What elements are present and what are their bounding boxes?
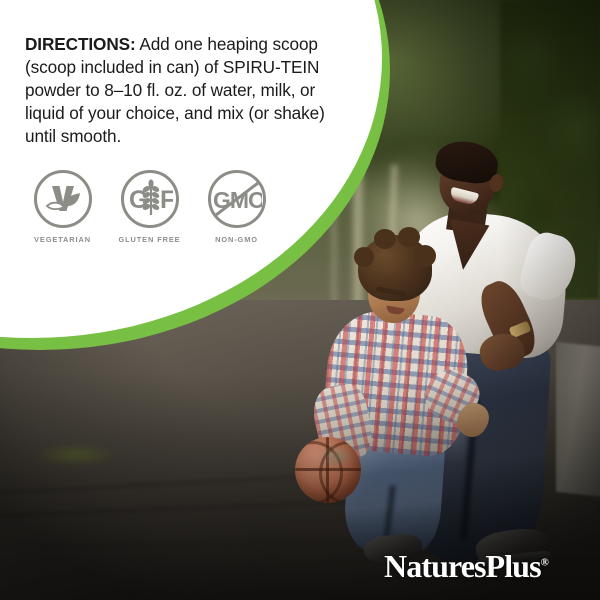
no-gmo-slash-icon: GMO — [208, 170, 266, 228]
directions-text: DIRECTIONS: Add one heaping scoop (scoop… — [25, 33, 325, 148]
directions-heading: DIRECTIONS: — [25, 34, 136, 54]
badge-label-vegetarian: VEGETARIAN — [34, 235, 91, 244]
svg-text:F: F — [160, 186, 173, 214]
badge-non-gmo: GMO NON-GMO — [199, 170, 274, 244]
badge-vegetarian: VEGETARIAN — [25, 170, 100, 244]
wheat-stalk-icon: G F — [121, 170, 179, 228]
badge-label-gluten-free: GLUTEN FREE — [118, 235, 180, 244]
registered-trademark-icon: ® — [541, 556, 549, 568]
brand-logo: NaturesPlus® — [384, 548, 549, 585]
brand-logo-text: NaturesPlus — [384, 548, 541, 584]
badge-label-non-gmo: NON-GMO — [215, 235, 258, 244]
product-directions-card: DIRECTIONS: Add one heaping scoop (scoop… — [0, 0, 600, 600]
certification-badges: VEGETARIAN G F — [25, 170, 275, 244]
badge-gluten-free: G F GLUTEN FREE — [112, 170, 187, 244]
vegetarian-leaf-icon — [34, 170, 92, 228]
